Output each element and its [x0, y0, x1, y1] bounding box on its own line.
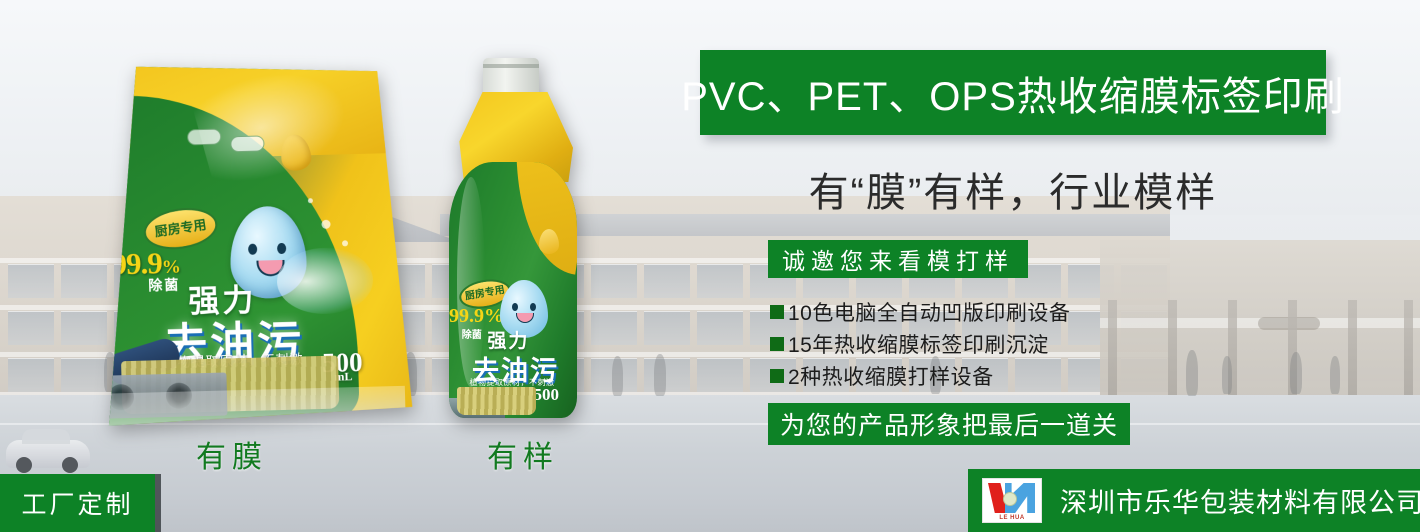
- pillar: [1168, 300, 1177, 396]
- volume-value: 500: [533, 385, 559, 404]
- feature-text: 15年热收缩膜标签印刷沉淀: [788, 329, 1049, 359]
- water-splash: [276, 247, 374, 315]
- feature-text: 2种热收缩膜打样设备: [788, 361, 994, 391]
- list-item: 2种热收缩膜打样设备: [770, 360, 1070, 392]
- list-item: 10色电脑全自动凹版印刷设备: [770, 296, 1070, 328]
- volume-label: 500: [533, 385, 559, 405]
- feature-list: 10色电脑全自动凹版印刷设备 15年热收缩膜标签印刷沉淀 2种热收缩膜打样设备: [770, 296, 1070, 392]
- bottle-yellow-panel: [497, 162, 577, 274]
- cleaning-brush: [457, 387, 536, 415]
- product-pouch: 厨房专用 99.9% 除菌 强力 去油污 植物提取原材，不刺激 500mL: [73, 60, 412, 427]
- percent-value: 99.9: [449, 305, 484, 327]
- feature-text: 10色电脑全自动凹版印刷设备: [788, 297, 1070, 327]
- pedestrian: [654, 354, 666, 396]
- pillar: [1108, 300, 1117, 396]
- sterilize-label: 除菌: [148, 275, 181, 296]
- pouch-mini-badge: [230, 135, 264, 152]
- promo-banner: 厨房专用 99.9% 除菌 强力 去油污 植物提取原材，不刺激 500mL: [0, 0, 1420, 532]
- pedestrian: [1330, 356, 1340, 394]
- headline-banner: PVC、PET、OPS热收缩膜标签印刷: [700, 50, 1326, 135]
- promise-text: 为您的产品形象把最后一道关: [780, 406, 1118, 442]
- company-name: 深圳市乐华包装材料有限公司: [1060, 481, 1420, 520]
- mascot-eye: [248, 244, 257, 255]
- invitation-text: 诚邀您来看模打样: [782, 242, 1014, 276]
- pedestrian: [1222, 356, 1232, 394]
- pedestrian: [612, 356, 623, 396]
- lehua-logo-icon: LE HUA: [982, 478, 1042, 523]
- factory-custom-badge: 工厂定制: [0, 474, 155, 532]
- pouch-body: 厨房专用 99.9% 除菌 强力 去油污 植物提取原材，不刺激 500mL: [73, 60, 412, 427]
- invitation-bar: 诚邀您来看模打样: [768, 240, 1028, 278]
- bullet-square-icon: [770, 369, 784, 383]
- mascot-mouth: [516, 313, 534, 323]
- water-bubble: [322, 219, 331, 228]
- sterilize-label: 除菌: [462, 326, 482, 341]
- logo-wordmark: LE HUA: [983, 515, 1041, 521]
- mascot-eye: [512, 303, 518, 311]
- caption-film: 有膜: [196, 432, 268, 476]
- list-item: 15年热收缩膜标签印刷沉淀: [770, 328, 1070, 360]
- headline-text: PVC、PET、OPS热收缩膜标签印刷: [681, 64, 1345, 122]
- pillar: [1348, 300, 1357, 396]
- water-bubble: [308, 198, 313, 203]
- pedestrian: [1290, 352, 1302, 394]
- pouch-mini-badge: [187, 129, 221, 146]
- product-bottle: 厨房专用 99.9% 除菌 强力 去油污 植物提取原材，不刺激 500: [447, 58, 579, 422]
- parked-car: [6, 440, 90, 468]
- caption-sample: 有样: [487, 432, 559, 476]
- bottle-shrink-label: 厨房专用 99.9% 除菌 强力 去油污 植物提取原材，不刺激 500: [449, 162, 577, 418]
- company-bar: LE HUA 深圳市乐华包装材料有限公司: [968, 469, 1420, 532]
- bullet-square-icon: [770, 337, 784, 351]
- water-bubble: [342, 240, 348, 246]
- pillar: [1404, 300, 1413, 396]
- mascot-eye: [277, 243, 286, 254]
- bullet-square-icon: [770, 305, 784, 319]
- pedestrian: [1186, 350, 1198, 396]
- mascot-eye: [530, 303, 536, 311]
- car-wheel: [16, 457, 32, 473]
- subtitle-text: 有“膜”有样，行业模样: [700, 160, 1326, 218]
- factory-badge-text: 工厂定制: [21, 485, 133, 521]
- car-wheel: [62, 457, 78, 473]
- logo-circle-accent: [1003, 492, 1017, 506]
- promise-bar: 为您的产品形象把最后一道关: [768, 403, 1130, 445]
